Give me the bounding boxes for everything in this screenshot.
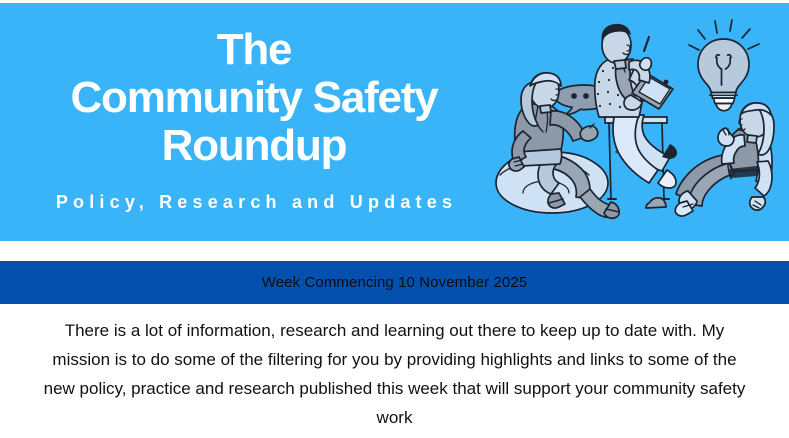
page-subtitle: Policy, Research and Updates: [51, 192, 457, 213]
intro-paragraph: There is a lot of information, research …: [38, 316, 751, 432]
week-commencing-label: Week Commencing 10 November 2025: [262, 274, 528, 291]
newsletter-page: The Community Safety Roundup Policy, Res…: [0, 0, 789, 438]
intro-section: There is a lot of information, research …: [0, 316, 789, 432]
team-collaboration-illustration: [494, 11, 786, 223]
hero-banner: The Community Safety Roundup Policy, Res…: [0, 3, 789, 241]
person-sitting-on-floor: [675, 103, 774, 216]
lightbulb-icon: [689, 20, 759, 111]
hero-text-block: The Community Safety Roundup Policy, Res…: [0, 3, 508, 241]
page-title: The Community Safety Roundup: [70, 26, 437, 170]
date-band: Week Commencing 10 November 2025: [0, 261, 789, 304]
